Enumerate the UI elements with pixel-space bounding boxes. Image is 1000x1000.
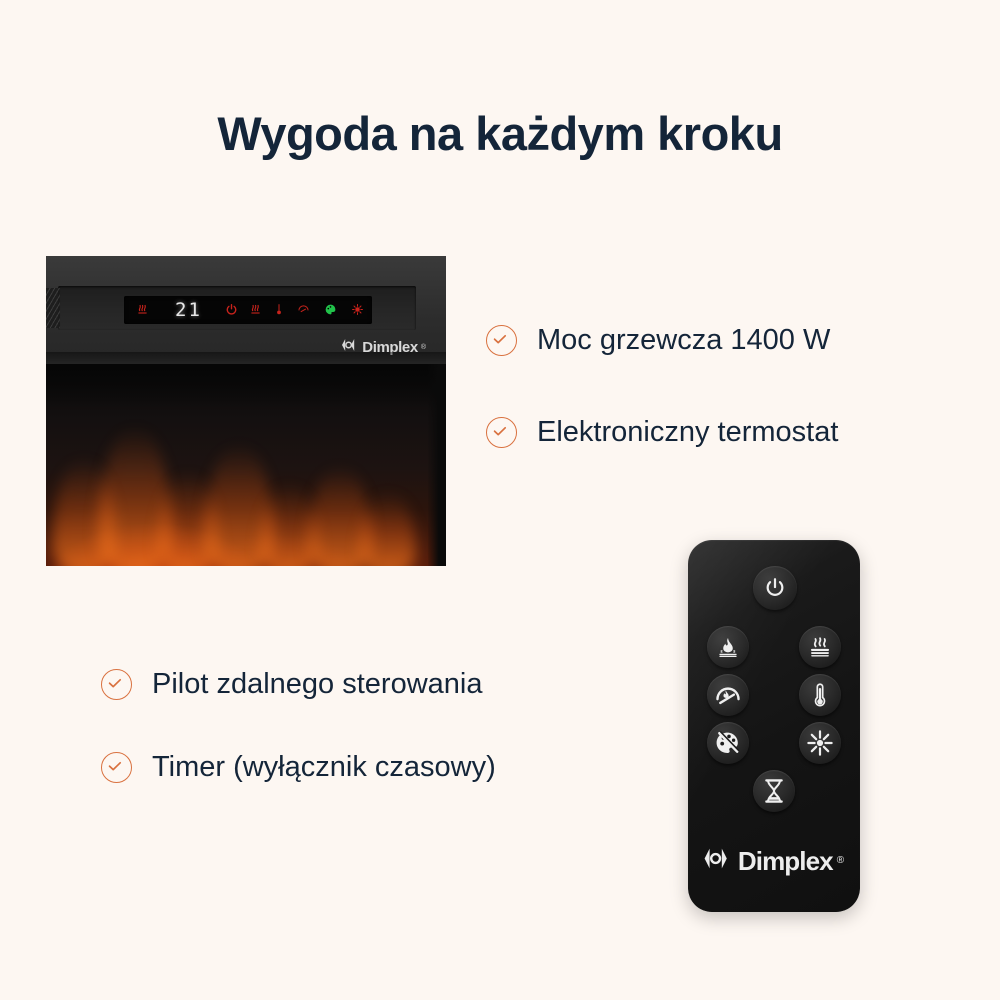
fireplace-firebox — [46, 364, 446, 566]
check-circle-icon — [486, 325, 517, 356]
registered-mark: ® — [837, 856, 844, 866]
heater-icon — [138, 304, 147, 317]
flame-shape — [360, 492, 416, 566]
temperature-value: 21 — [175, 301, 202, 320]
power-icon — [226, 304, 237, 317]
flame-speed-icon — [298, 304, 309, 316]
remote-brightness-button[interactable] — [799, 722, 841, 764]
page-title: Wygoda na każdym kroku — [0, 106, 1000, 161]
dimplex-mark-icon — [704, 848, 734, 874]
bezel-shadow — [46, 352, 446, 366]
feature-item-thermostat: Elektroniczny termostat — [486, 416, 838, 449]
registered-mark: ® — [421, 344, 426, 351]
fireplace-product-image: 21 — [46, 256, 446, 566]
remote-flame-colour-button[interactable] — [707, 722, 749, 764]
feature-item-timer: Timer (wyłącznik czasowy) — [101, 751, 496, 784]
remote-control: Dimplex ® — [688, 540, 860, 912]
feature-item-remote-control: Pilot zdalnego sterowania — [101, 668, 482, 701]
fireplace-led-display: 21 — [124, 296, 372, 324]
feature-label: Timer (wyłącznik czasowy) — [152, 751, 496, 784]
remote-thermostat-button[interactable] — [799, 674, 841, 716]
brightness-icon — [352, 304, 363, 317]
color-palette-icon — [325, 304, 336, 317]
feature-label: Moc grzewcza 1400 W — [537, 324, 830, 357]
remote-timer-button[interactable] — [753, 770, 795, 812]
remote-flame-button[interactable] — [707, 626, 749, 668]
feature-label: Elektroniczny termostat — [537, 416, 838, 449]
feature-item-heating-power: Moc grzewcza 1400 W — [486, 324, 830, 357]
feature-label: Pilot zdalnego sterowania — [152, 668, 482, 701]
check-circle-icon — [101, 669, 132, 700]
remote-brand-logo: Dimplex ® — [688, 848, 860, 874]
remote-flame-speed-button[interactable] — [707, 674, 749, 716]
firebox-top-shade — [46, 364, 446, 408]
check-circle-icon — [101, 752, 132, 783]
heater-icon — [251, 304, 260, 317]
firebox-right-wall — [428, 364, 446, 566]
thermometer-icon — [276, 303, 282, 317]
remote-power-button[interactable] — [753, 566, 797, 610]
vent-grille — [46, 288, 60, 328]
dimplex-wordmark: Dimplex — [738, 848, 833, 874]
fireplace-top-bezel: 21 — [46, 256, 446, 364]
check-circle-icon — [486, 417, 517, 448]
remote-heat-button[interactable] — [799, 626, 841, 668]
